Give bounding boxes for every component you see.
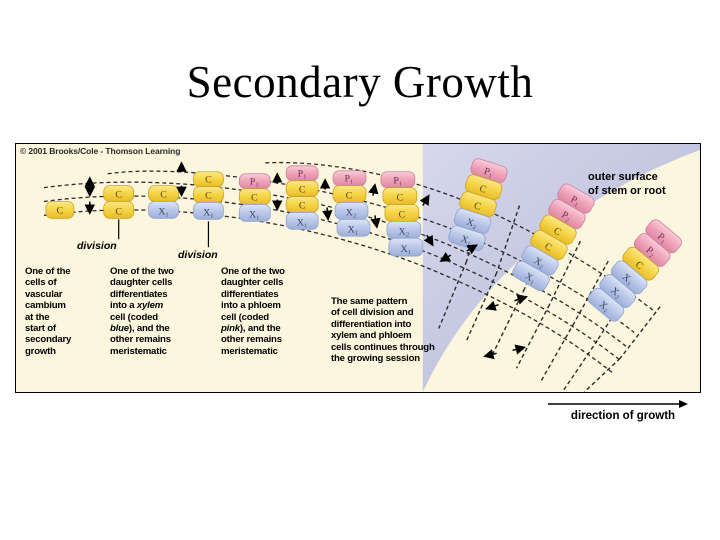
svg-text:C: C: [57, 205, 64, 216]
cell-P1: P₁: [381, 172, 415, 188]
caption-column-1: One of thecells ofvascularcambiumat thes…: [25, 266, 97, 357]
cell-C: C: [383, 188, 417, 205]
cell-C: C: [149, 186, 179, 202]
cell-C: C: [286, 181, 318, 197]
caption-column-4: The same patternof cell division anddiff…: [331, 296, 481, 364]
svg-text:C: C: [346, 191, 353, 202]
cell-P1: P₁: [239, 174, 270, 189]
svg-text:P₁: P₁: [345, 174, 354, 185]
cell-X1: X₁: [149, 202, 179, 219]
cell-X1: X₁: [193, 203, 223, 220]
cell-C: C: [193, 172, 223, 187]
cell-X2: X₂: [335, 203, 368, 220]
division-label-2: division: [178, 249, 218, 261]
svg-text:X₁: X₁: [401, 244, 412, 255]
svg-text:X₁: X₁: [158, 206, 169, 217]
svg-text:P₁: P₁: [250, 177, 259, 188]
svg-text:X₁: X₁: [297, 217, 308, 228]
svg-text:C: C: [299, 201, 306, 212]
cell-X1: X₁: [239, 205, 270, 222]
cell-C: C: [333, 186, 366, 203]
svg-text:P₁: P₁: [393, 176, 402, 187]
page-title: Secondary Growth: [0, 60, 720, 105]
svg-text:C: C: [205, 175, 212, 186]
svg-text:C: C: [397, 193, 404, 204]
svg-text:X₁: X₁: [203, 207, 214, 218]
cell-C: C: [104, 186, 134, 202]
division-label-1: division: [77, 240, 117, 252]
svg-text:X₁: X₁: [249, 209, 260, 220]
cell-C: C: [286, 197, 318, 213]
cell-C: C: [385, 205, 419, 222]
svg-text:C: C: [115, 206, 122, 217]
cell-X1: X₁: [337, 219, 370, 236]
caption-column-2: One of the twodaughter cellsdifferentiat…: [110, 266, 206, 357]
cell-P1: P₁: [286, 166, 318, 181]
svg-text:C: C: [115, 190, 122, 201]
caption-column-3: One of the twodaughter cellsdifferentiat…: [221, 266, 319, 357]
cell-C: C: [193, 187, 223, 203]
svg-text:X₂: X₂: [399, 226, 410, 237]
outer-surface-label: outer surfaceof stem or root: [588, 170, 666, 198]
svg-text:C: C: [399, 209, 406, 220]
svg-text:C: C: [251, 193, 258, 204]
cell-X1: X₁: [286, 212, 318, 229]
svg-text:C: C: [160, 190, 167, 201]
cell-P1: P₁: [333, 171, 366, 186]
cell-X2: X₂: [387, 221, 421, 238]
direction-of-growth-arrow: [548, 399, 688, 409]
direction-of-growth-label: direction of growth: [548, 410, 698, 422]
cell-C: C: [46, 202, 74, 219]
division-leader-lines: [119, 219, 209, 247]
svg-text:C: C: [299, 185, 306, 196]
cell-C: C: [104, 202, 134, 219]
svg-text:X₁: X₁: [348, 224, 359, 235]
svg-text:P₁: P₁: [298, 169, 307, 180]
copyright-notice: © 2001 Brooks/Cole - Thomson Learning: [20, 146, 180, 156]
cell-X1: X₁: [389, 238, 423, 256]
svg-text:X₂: X₂: [346, 207, 357, 218]
cell-C: C: [239, 189, 270, 205]
svg-text:C: C: [205, 191, 212, 202]
